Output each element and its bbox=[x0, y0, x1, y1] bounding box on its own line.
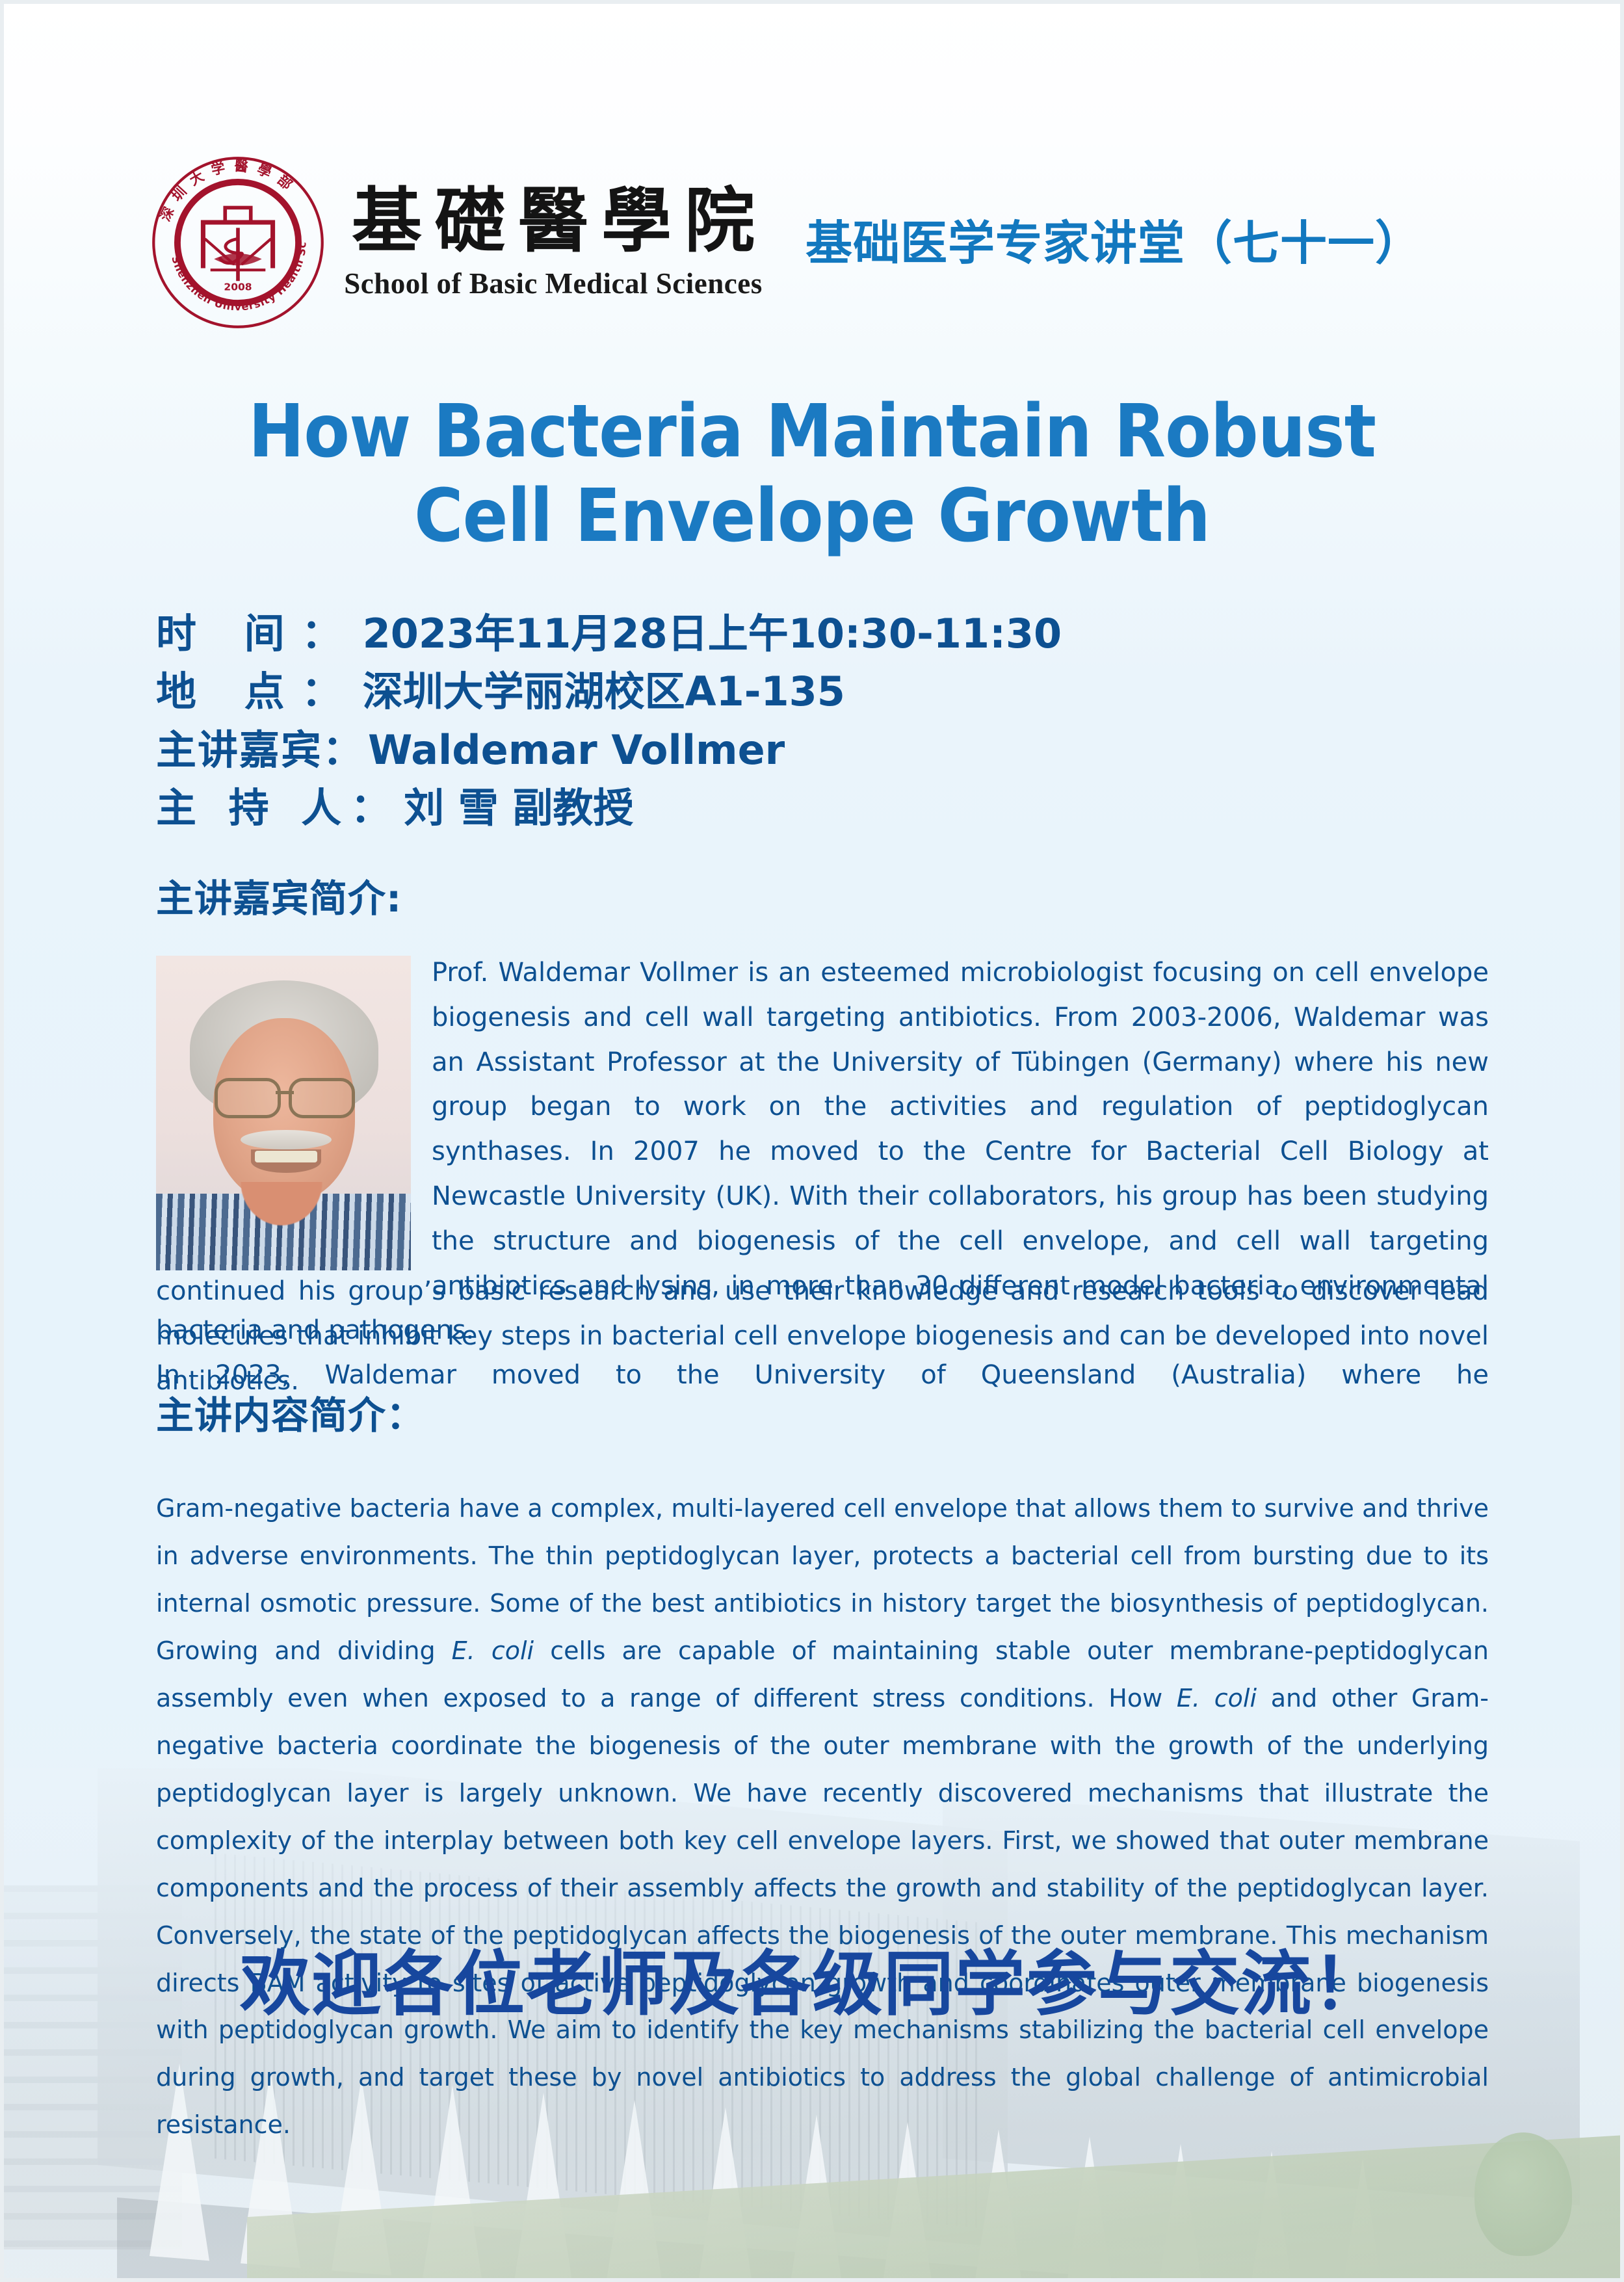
detail-value-time: 2023年11月28日上午10:30-11:30 bbox=[363, 611, 1062, 656]
school-name-block: 基礎醫學院 School of Basic Medical Sciences bbox=[339, 185, 768, 300]
svg-text:深圳大学醫學部: 深圳大学醫學部 bbox=[157, 157, 302, 224]
event-details: 时 间： 2023年11月28日上午10:30-11:30 地 点： 深圳大学丽… bbox=[156, 611, 1489, 844]
detail-value-host: 刘 雪 副教授 bbox=[404, 785, 633, 830]
abstract-heading: 主讲内容简介： bbox=[156, 1385, 425, 1439]
detail-label-time: 时 间： bbox=[156, 611, 359, 656]
poster-content: 深圳大学醫學部 Shenzhen University Health Scien… bbox=[0, 0, 1624, 2282]
title-line-1: How Bacteria Maintain Robust bbox=[65, 390, 1559, 475]
detail-value-speaker: Waldemar Vollmer bbox=[368, 728, 785, 772]
abstract-italic-species-2: E. coli bbox=[1177, 1684, 1257, 1712]
welcome-banner: 欢迎各位老师及各级同学参与交流！ bbox=[0, 1928, 1624, 2029]
portrait-mouth bbox=[251, 1149, 321, 1173]
detail-row-location: 地 点： 深圳大学丽湖校区A1-135 bbox=[156, 669, 1489, 714]
page-title: How Bacteria Maintain Robust Cell Envelo… bbox=[65, 390, 1559, 559]
university-seal-logo: 深圳大学醫學部 Shenzhen University Health Scien… bbox=[146, 151, 330, 334]
lecture-series-title: 基础医学专家讲堂（七十一） bbox=[805, 205, 1422, 273]
abstract-paragraph: Gram-negative bacteria have a complex, m… bbox=[156, 1485, 1489, 2149]
detail-row-speaker: 主讲嘉宾： Waldemar Vollmer bbox=[156, 728, 1489, 772]
school-name-cn: 基礎醫學院 bbox=[339, 185, 768, 258]
poster-header: 深圳大学醫學部 Shenzhen University Health Scien… bbox=[146, 148, 1422, 337]
speaker-bio-heading: 主讲嘉宾简介: bbox=[156, 868, 402, 923]
speaker-bio-tail: continued his group’s basic research and… bbox=[156, 1269, 1489, 1403]
abstract-italic-species-1: E. coli bbox=[452, 1636, 534, 1665]
detail-value-location: 深圳大学丽湖校区A1-135 bbox=[363, 669, 845, 714]
poster-root: 深圳大学醫學部 Shenzhen University Health Scien… bbox=[0, 0, 1624, 2282]
speaker-bio-paragraph-2-tail: continued his group’s basic research and… bbox=[156, 1269, 1489, 1403]
speaker-portrait bbox=[156, 956, 411, 1270]
detail-row-time: 时 间： 2023年11月28日上午10:30-11:30 bbox=[156, 611, 1489, 656]
portrait-glasses bbox=[212, 1078, 358, 1113]
abstract-block: Gram-negative bacteria have a complex, m… bbox=[156, 1460, 1489, 2173]
title-line-2: Cell Envelope Growth bbox=[65, 475, 1559, 559]
logo-year: 2008 bbox=[224, 281, 252, 293]
portrait-moustache bbox=[241, 1130, 332, 1149]
abstract-text-part-3: and other Gram-negative bacteria coordin… bbox=[156, 1684, 1489, 2140]
detail-label-speaker: 主讲嘉宾： bbox=[156, 728, 364, 772]
detail-label-host: 主 持 人： bbox=[156, 785, 400, 830]
school-name-en: School of Basic Medical Sciences bbox=[344, 267, 762, 300]
detail-row-host: 主 持 人： 刘 雪 副教授 bbox=[156, 785, 1489, 830]
detail-label-location: 地 点： bbox=[156, 669, 359, 714]
portrait-collar bbox=[233, 1182, 330, 1234]
